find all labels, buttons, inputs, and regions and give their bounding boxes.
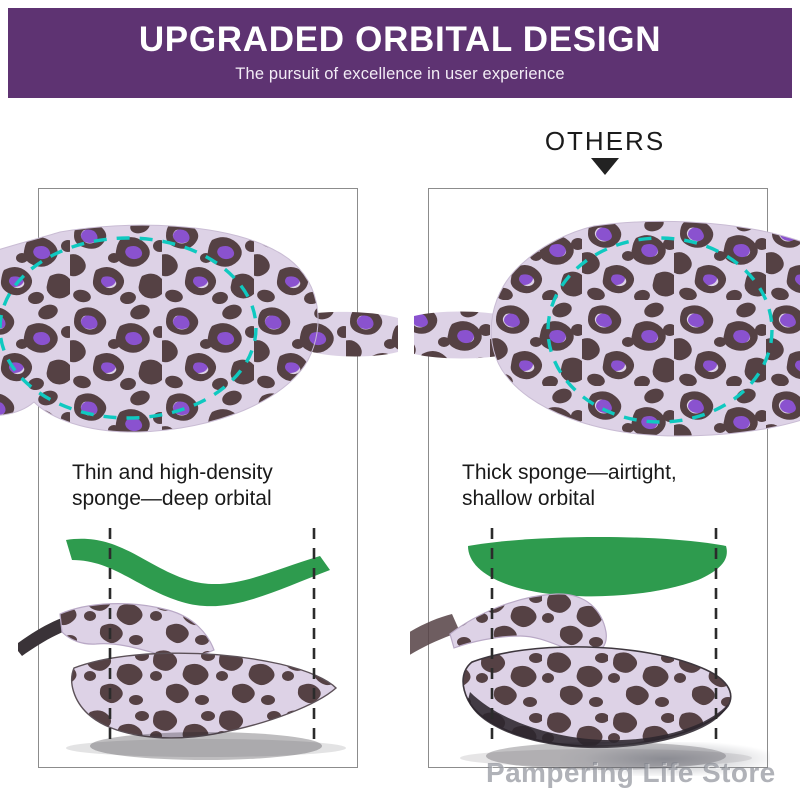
dashed-vertical-guides	[428, 518, 768, 768]
store-watermark: Pampering Life Store	[486, 757, 776, 789]
sleep-mask-side-thick	[410, 588, 770, 773]
dashed-ellipse-icon	[548, 238, 772, 422]
product-infographic: UPGRADED ORBITAL DESIGN The pursuit of e…	[0, 0, 800, 800]
page-subtitle: The pursuit of excellence in user experi…	[235, 65, 564, 84]
caption-ours: Thin and high-density sponge—deep orbita…	[72, 460, 372, 511]
triangle-down-icon	[591, 158, 619, 175]
others-marker: OTHERS	[520, 128, 690, 175]
dashed-vertical-guides	[38, 518, 358, 768]
dashed-ellipse-icon	[0, 238, 256, 418]
others-label: OTHERS	[520, 128, 690, 154]
shallow-contour-curve	[458, 530, 748, 610]
sleep-mask-front-leopard-mirrored	[398, 214, 800, 464]
caption-others: Thick sponge—airtight, shallow orbital	[462, 460, 772, 511]
deep-contour-curve	[58, 530, 348, 612]
header-banner: UPGRADED ORBITAL DESIGN The pursuit of e…	[8, 8, 792, 98]
sleep-mask-front-leopard	[0, 218, 398, 458]
sleep-mask-side-thin	[18, 588, 363, 768]
page-title: UPGRADED ORBITAL DESIGN	[139, 22, 661, 59]
